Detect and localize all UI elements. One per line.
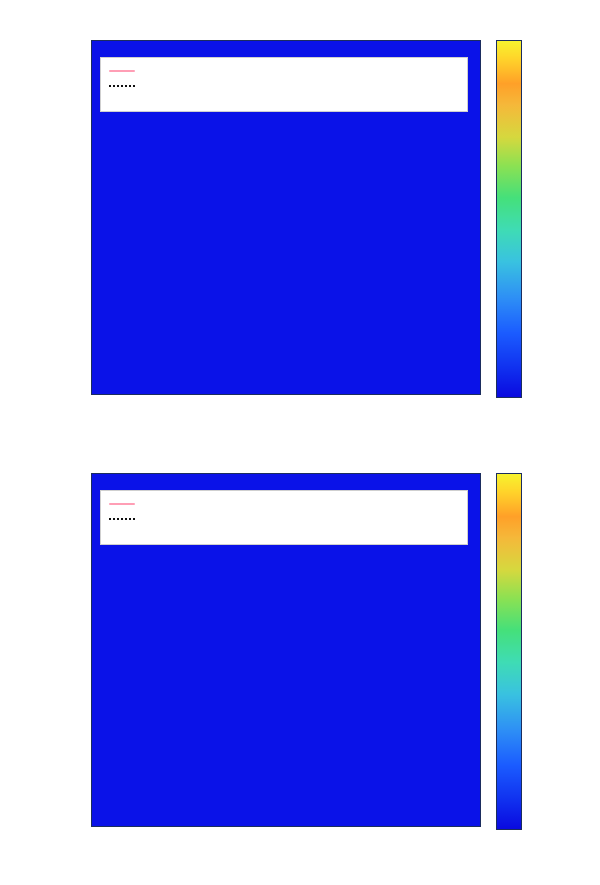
legend-item-tracker — [107, 497, 459, 511]
colorbar-b — [496, 473, 522, 830]
dotted-line-icon — [107, 512, 137, 526]
panel-a — [0, 0, 600, 430]
legend-item-channels — [107, 527, 459, 541]
legend-key-empty — [107, 527, 137, 541]
dotted-line-icon — [107, 79, 137, 93]
legend-item-reference — [107, 79, 459, 93]
legend-item-reference — [107, 512, 459, 526]
legend-item-tracker — [107, 64, 459, 78]
panel-b — [0, 430, 600, 885]
panel-b-legend — [100, 490, 468, 545]
stft-figure — [0, 0, 600, 885]
solid-line-icon — [107, 64, 137, 78]
legend-key-empty — [107, 94, 137, 108]
panel-a-legend — [100, 57, 468, 112]
solid-line-icon — [107, 497, 137, 511]
legend-item-channels — [107, 94, 459, 108]
colorbar-a — [496, 40, 522, 398]
